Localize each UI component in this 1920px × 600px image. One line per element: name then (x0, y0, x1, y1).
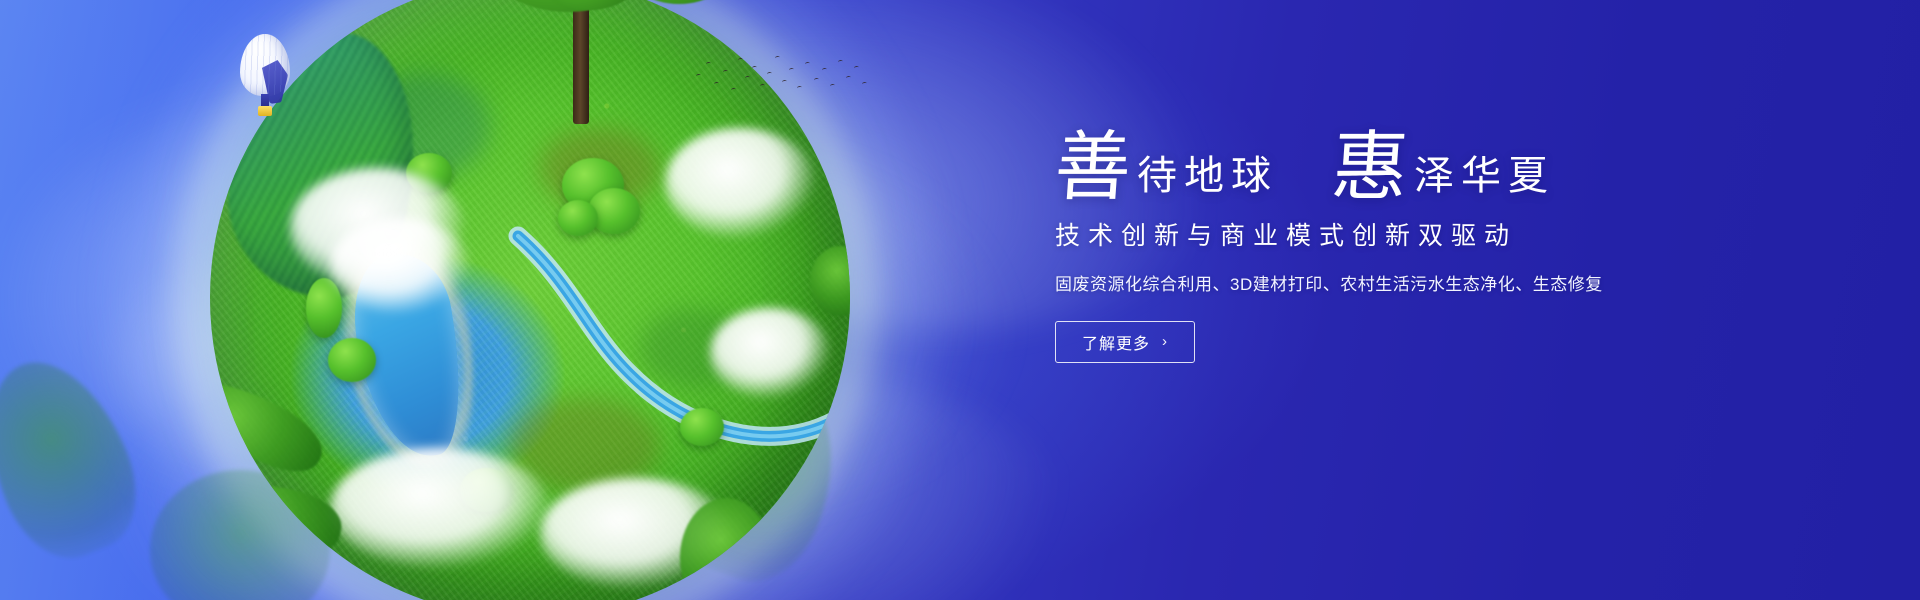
chevron-right-icon: › (1162, 334, 1168, 349)
bush (328, 338, 376, 382)
birds-flock-icon (690, 48, 870, 102)
balloon-neck (261, 94, 269, 106)
planet-cloud (665, 128, 815, 238)
learn-more-label: 了解更多 (1082, 330, 1150, 354)
hot-air-balloon-icon (236, 34, 294, 126)
rim-tree (680, 498, 772, 600)
page-title: 善 待地球 惠 泽华夏 (1055, 132, 1815, 202)
bush (680, 408, 724, 446)
hero-banner: 善 待地球 惠 泽华夏 技术创新与商业模式创新双驱动 固废资源化综合利用、3D建… (0, 0, 1920, 600)
hero-description: 固废资源化综合利用、3D建材打印、农村生活污水生态净化、生态修复 (1055, 270, 1815, 295)
hero-subtitle: 技术创新与商业模式创新双驱动 (1055, 216, 1815, 252)
rim-tree (210, 364, 333, 486)
bush (558, 200, 598, 236)
balloon-stripes (240, 34, 290, 96)
rim-tree (210, 472, 347, 564)
tree-canopy (624, 0, 734, 4)
headline-char-1: 善 (1053, 132, 1140, 202)
planet-cloud (710, 308, 830, 398)
headline-char-2: 惠 (1330, 132, 1417, 202)
balloon-basket (258, 106, 272, 116)
planet-cloud (330, 218, 470, 313)
planet-cloud (330, 448, 550, 568)
headline-rest-1: 待地球 (1137, 156, 1278, 202)
learn-more-button[interactable]: 了解更多 › (1055, 321, 1195, 363)
tree-trunk (573, 6, 589, 124)
headline-rest-2: 泽华夏 (1414, 156, 1555, 202)
hero-content: 善 待地球 惠 泽华夏 技术创新与商业模式创新双驱动 固废资源化综合利用、3D建… (1055, 132, 1815, 363)
rim-tree (770, 473, 850, 593)
